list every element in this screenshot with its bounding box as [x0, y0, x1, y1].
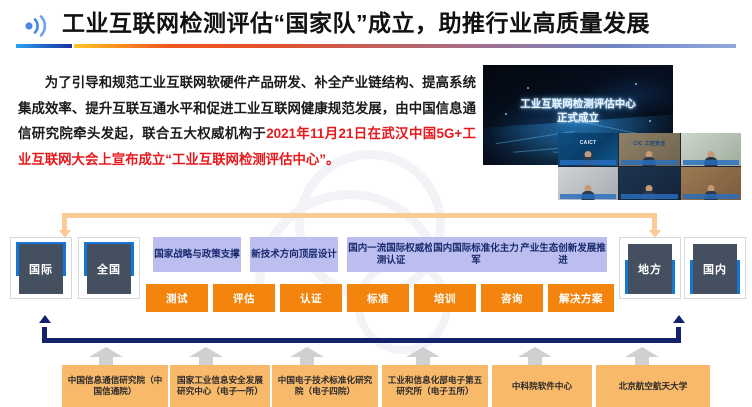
organization-box[interactable]: 中国信息通信研究院（中国信通院）: [62, 365, 168, 407]
screen-dot: [635, 83, 637, 85]
video-participant-cell: [681, 133, 741, 166]
capability-box[interactable]: 国内国际标准化主力军: [432, 237, 520, 272]
capability-diagram: 国际 全国 地方 国内 国: [0, 205, 752, 407]
organization-box[interactable]: 工业和信息化部电子第五研究所（电子五所）: [382, 365, 488, 407]
service-box[interactable]: 解决方案: [548, 284, 614, 312]
video-participant-cell: [681, 167, 741, 200]
scope-core: 国际: [19, 244, 63, 294]
capability-box[interactable]: 新技术方向顶层设计: [250, 237, 338, 272]
media-cluster: 工业互联网检测评估中心 正式成立 CAICT CIC 工控安全: [483, 65, 741, 200]
scope-domestic[interactable]: 国内: [684, 237, 746, 299]
up-arrow-icon: [89, 347, 123, 367]
participant-name-tag: [683, 160, 739, 165]
header: 工业互联网检测评估“国家队”成立，助推行业高质量发展: [0, 0, 752, 46]
screen-caption: 工业互联网检测评估中心 正式成立: [483, 98, 673, 125]
service-box[interactable]: 标准: [347, 284, 409, 312]
service-box[interactable]: 培训: [414, 284, 476, 312]
video-participant-cell: [619, 167, 679, 200]
divider-blue-segment: [16, 44, 72, 48]
organization-box[interactable]: 中国电子技术标准化研究院（电子四院）: [272, 365, 378, 407]
scope-label: 国内: [703, 261, 727, 277]
bracket-left-stem: [62, 213, 67, 231]
video-cell-logo: CIC 工控安全: [633, 140, 665, 147]
scope-core: 地方: [628, 244, 672, 294]
screen-caption-line2: 正式成立: [483, 112, 673, 126]
divider-gradient-segment: [74, 44, 736, 48]
service-box[interactable]: 咨询: [481, 284, 543, 312]
scope-national[interactable]: 全国: [78, 237, 140, 299]
screen-caption-line1: 工业互联网检测评估中心: [483, 98, 673, 112]
slide-root: 工业互联网检测评估“国家队”成立，助推行业高质量发展 为了引导和规范工业互联网软…: [0, 0, 752, 407]
scope-international[interactable]: 国际: [10, 237, 72, 299]
bottom-navy-bracket: [42, 321, 681, 343]
scope-local[interactable]: 地方: [619, 237, 681, 299]
participant-name-tag: [560, 160, 616, 165]
scope-label: 地方: [638, 261, 662, 277]
capability-box[interactable]: 国家战略与政策支撑: [153, 237, 241, 272]
bracket-left-arrow-icon: [39, 315, 51, 323]
service-box[interactable]: 评估: [213, 284, 275, 312]
scope-core: 国内: [693, 244, 737, 294]
broadcast-signal-icon: [20, 14, 58, 38]
capability-box[interactable]: 产业生态创新发展推进: [519, 237, 607, 272]
up-arrow-icon: [406, 347, 440, 367]
participant-name-tag: [621, 194, 677, 199]
organization-box[interactable]: 中科院软件中心: [492, 365, 592, 407]
participant-name-tag: [621, 160, 677, 165]
video-conference-grid: CAICT CIC 工控安全: [558, 133, 741, 200]
service-box[interactable]: 测试: [146, 284, 208, 312]
organization-row: 中国信息通信研究院（中国信通院） 国家工业信息安全发展研究中心（电子一所） 中国…: [0, 347, 752, 407]
scope-label: 国际: [29, 261, 53, 277]
up-arrow-icon: [518, 347, 552, 367]
organization-box[interactable]: 国家工业信息安全发展研究中心（电子一所）: [170, 365, 270, 407]
bracket-right-stem: [676, 327, 681, 343]
title-divider: [16, 44, 736, 48]
page-title: 工业互联网检测评估“国家队”成立，助推行业高质量发展: [62, 8, 722, 38]
bracket-bar: [42, 338, 681, 343]
video-participant-cell: CAICT: [558, 133, 618, 166]
participant-name-tag: [560, 194, 616, 199]
up-arrow-icon: [189, 347, 223, 367]
screen-dot: [527, 87, 529, 89]
up-arrow-icon: [625, 347, 659, 367]
video-cell-logo: CAICT: [580, 140, 597, 146]
top-orange-bracket: [62, 213, 657, 237]
video-participant-cell: [558, 167, 618, 200]
organization-box[interactable]: 北京航空航天大学: [596, 365, 710, 407]
participant-name-tag: [683, 194, 739, 199]
bracket-right-stem: [652, 213, 657, 231]
bracket-right-arrow-icon: [673, 315, 685, 323]
capability-box[interactable]: 国内一流国际权威检测认证: [347, 237, 435, 272]
scope-label: 全国: [97, 261, 121, 277]
service-box[interactable]: 认证: [280, 284, 342, 312]
body-paragraph: 为了引导和规范工业互联网软硬件产品研发、补全产业链结构、提高系统集成效率、提升互…: [18, 70, 476, 172]
video-participant-cell: CIC 工控安全: [619, 133, 679, 166]
bracket-bar: [62, 213, 657, 218]
bracket-left-stem: [42, 327, 47, 343]
scope-core: 全国: [87, 244, 131, 294]
up-arrow-icon: [290, 347, 324, 367]
